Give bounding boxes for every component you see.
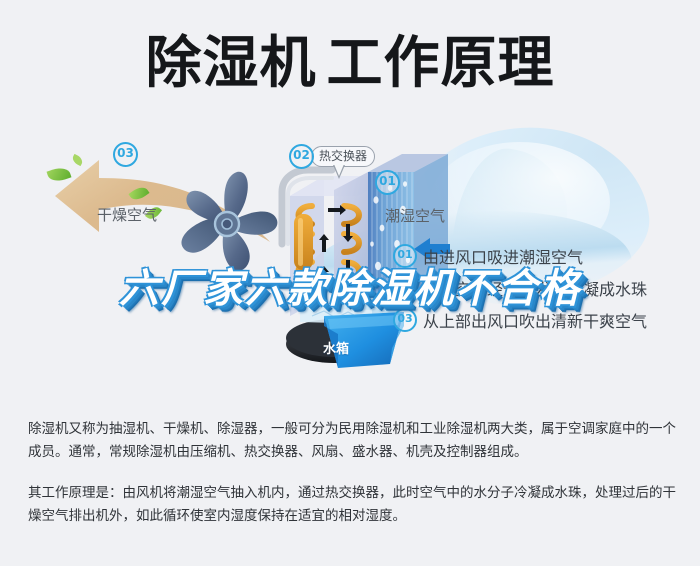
body-paragraph-1: 除湿机又称为抽湿机、干燥机、除湿器，一般可分为民用除湿机和工业除湿机两大类，属于…	[28, 418, 676, 464]
body-paragraph-2: 其工作原理是：由风机将潮湿空气抽入机内，通过热交换器，此时空气中的水分子冷凝成水…	[28, 482, 676, 528]
water-tank-label: 水箱	[323, 338, 349, 357]
page-title: 除湿机工作原理	[0, 32, 700, 96]
list-item: 03从上部出风口吹出清新干爽空气	[393, 308, 693, 340]
step-text-01: 由进风口吸进潮湿空气	[423, 244, 583, 268]
diagram-badge-03: 03	[113, 142, 138, 167]
humid-air-label: 潮湿空气	[385, 205, 445, 226]
dry-air-label: 干燥空气	[97, 204, 157, 225]
page-title-part2: 工作原理	[327, 31, 555, 96]
infographic-page: 除湿机工作原理	[0, 0, 700, 566]
step-number-01: 01	[393, 244, 417, 268]
overlay-headline: 六厂家六款除湿机不合格	[0, 266, 700, 312]
fan-icon	[168, 168, 286, 280]
diagram-badge-01: 01	[375, 170, 400, 195]
callout-tail-inner-icon	[334, 164, 344, 176]
page-title-part1: 除湿机	[146, 31, 317, 96]
diagram-badge-02: 02	[289, 144, 314, 169]
